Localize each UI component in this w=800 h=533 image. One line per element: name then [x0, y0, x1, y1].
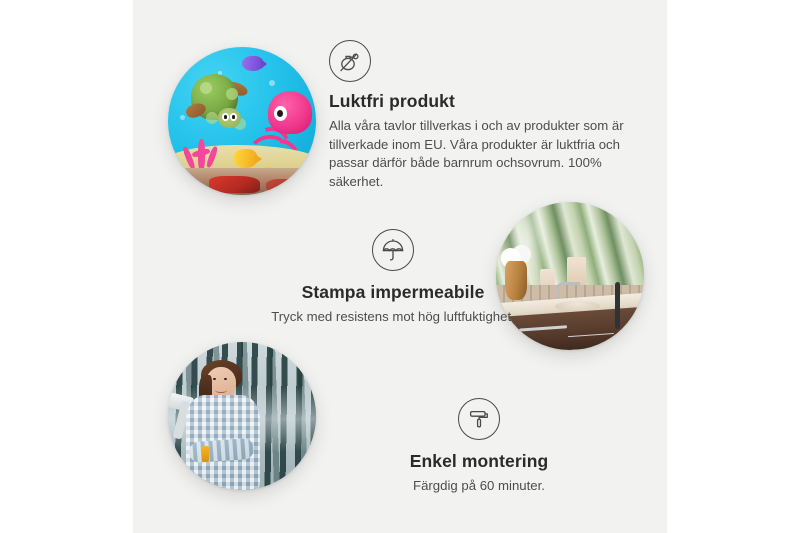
- bubble-icon: [180, 115, 185, 120]
- turtle-eye: [222, 113, 229, 121]
- feature-mounting: Enkel montering Färgdig på 60 minuter.: [329, 398, 629, 496]
- cabinet-handle: [615, 282, 620, 330]
- turtle-illustration: [187, 74, 252, 133]
- bubble-icon: [269, 80, 275, 86]
- octopus-head: [268, 91, 312, 133]
- content-panel: Luktfri produkt Alla våra tavlor tillver…: [133, 0, 667, 533]
- no-odour-perfume-icon: [329, 40, 371, 82]
- umbrella-icon: [372, 229, 414, 271]
- paint-roller-icon: [458, 398, 500, 440]
- woman-crossed-arms: [188, 437, 254, 462]
- woman-with-paint-roller-forest-thumbnail[interactable]: [168, 342, 316, 490]
- room-floor-strip: [168, 168, 316, 195]
- turtle-eye: [230, 113, 237, 121]
- feature-odourless: Luktfri produkt Alla våra tavlor tillver…: [329, 40, 629, 192]
- feature-description: Färgdig på 60 minuter.: [329, 477, 629, 496]
- coral-illustration: [180, 127, 224, 171]
- purple-fish-icon: [242, 56, 263, 71]
- screenshot-root: Luktfri produkt Alla våra tavlor tillver…: [0, 0, 800, 533]
- feature-title: Stampa impermeabile: [213, 282, 573, 303]
- underwater-kids-mural-thumbnail[interactable]: [168, 47, 316, 195]
- feature-title: Luktfri produkt: [329, 91, 629, 112]
- feature-title: Enkel montering: [329, 451, 629, 472]
- yellow-fish-icon: [233, 149, 257, 168]
- feature-description: Tryck med resistens mot hög luftfuktighe…: [213, 308, 573, 327]
- woman-smile: [215, 387, 227, 392]
- feature-waterproof: Stampa impermeabile Tryck med resistens …: [213, 229, 573, 327]
- handheld-tool: [202, 446, 209, 462]
- feature-description: Alla våra tavlor tillverkas i och av pro…: [329, 117, 629, 192]
- octopus-eye: [274, 106, 287, 121]
- turtle-head: [218, 108, 240, 128]
